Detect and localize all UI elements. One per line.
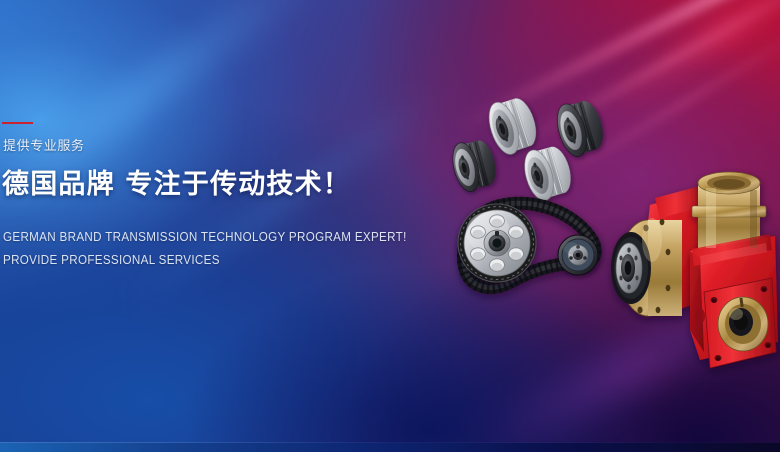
headline-text-block: 提供专业服务 德国品牌 专注于传动技术！ GERMAN BRAND TRANSM… [0, 0, 420, 452]
right-angle-gearbox-right [690, 172, 778, 368]
bottom-strip [0, 443, 780, 452]
timing-pulley-silver-top [483, 93, 542, 158]
accent-bar [2, 122, 33, 124]
timing-pulley-dark-top [552, 96, 608, 160]
subtitle-english-line-2: PROVIDE PROFESSIONAL SERVICES [3, 253, 220, 268]
timing-pulley-dark-left [448, 136, 500, 194]
page-title: 德国品牌 专注于传动技术！ [2, 169, 351, 201]
subtitle-english-line-1: GERMAN BRAND TRANSMISSION TECHNOLOGY PRO… [3, 230, 407, 245]
subtitle-chinese: 提供专业服务 [3, 139, 85, 155]
timing-pulley-silver-lower [519, 142, 576, 204]
hero-banner: 提供专业服务 德国品牌 专注于传动技术！ GERMAN BRAND TRANSM… [0, 0, 780, 452]
timing-gear-large [458, 204, 536, 282]
idler-pulley-small [558, 235, 598, 275]
